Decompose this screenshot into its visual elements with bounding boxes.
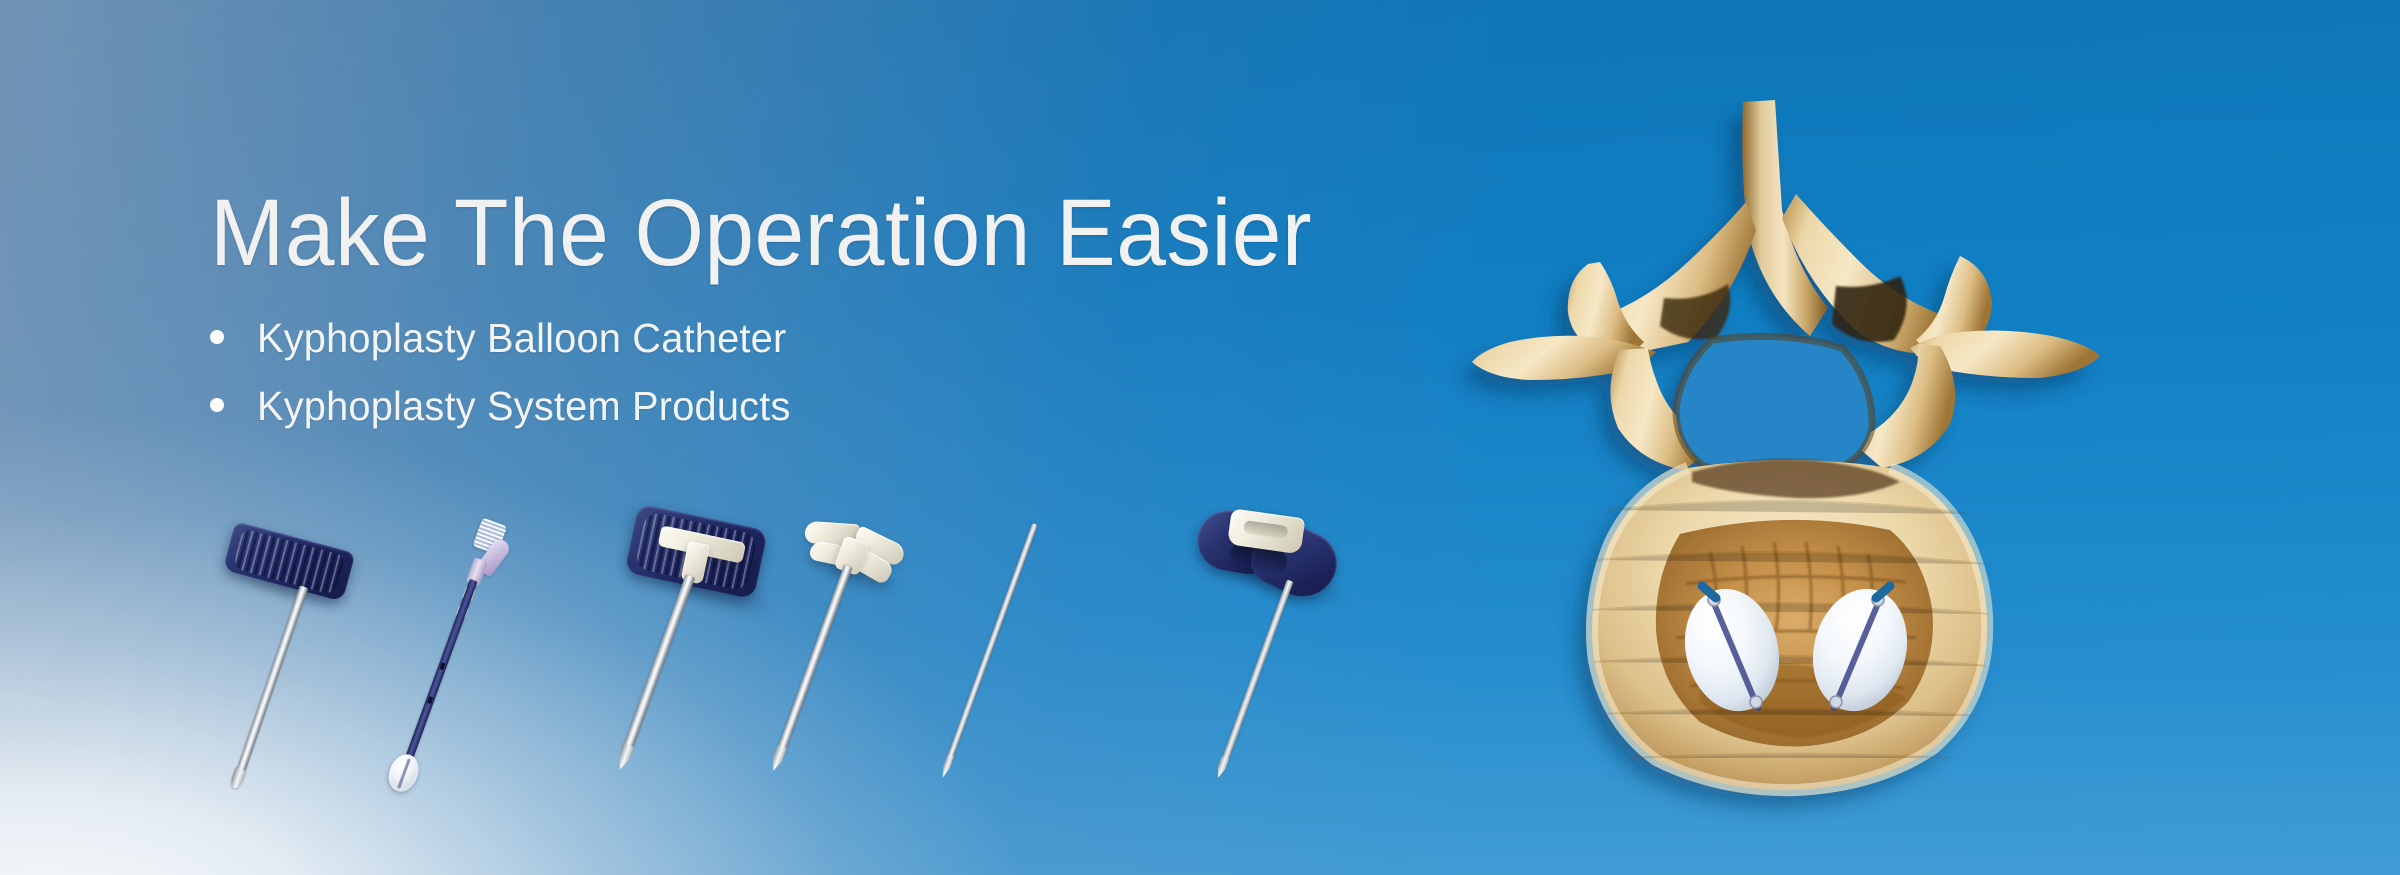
instrument-access-cannula: [1134, 492, 1425, 822]
lumbar-vertebra-illustration: [1560, 90, 2360, 790]
cannula-shaft: [1219, 579, 1293, 766]
catheter-shaft: [403, 579, 477, 765]
instrument-shaft: [775, 565, 852, 756]
bevel-tip-icon: [769, 745, 787, 773]
instrument-tray: [0, 0, 1560, 875]
bevel-tip-icon: [615, 743, 634, 771]
instrument-shaft: [621, 574, 695, 754]
hero-banner: Make The Operation Easier Kyphoplasty Ba…: [0, 0, 2400, 875]
vertebral-foramen: [1676, 336, 1872, 475]
needle-point-icon: [939, 754, 954, 779]
vertebra-body-group: [1472, 100, 2100, 790]
needle-point-icon: [1214, 756, 1229, 779]
blunt-tip-icon: [229, 767, 246, 789]
instrument-shaft: [233, 585, 308, 782]
